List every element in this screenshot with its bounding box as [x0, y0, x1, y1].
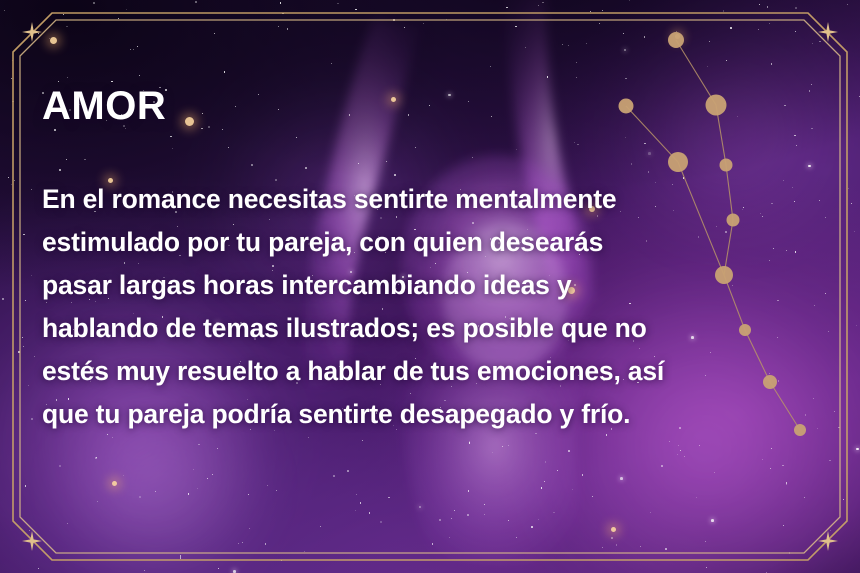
- paragraph-line: que tu pareja podría sentirte desapegado…: [42, 393, 800, 436]
- card-content: AMOR En el romance necesitas sentirte me…: [42, 86, 800, 436]
- paragraph-line: estimulado por tu pareja, con quien dese…: [42, 221, 800, 264]
- page-title: AMOR: [42, 86, 800, 126]
- paragraph-line: estés muy resuelto a hablar de tus emoci…: [42, 350, 800, 393]
- paragraph-line: En el romance necesitas sentirte mentalm…: [42, 178, 800, 221]
- sparkle-icon-bottom-right: [818, 531, 838, 551]
- sparkle-icon-top-right: [818, 22, 838, 42]
- sparkle-icon-top-left: [22, 22, 42, 42]
- paragraph-line: hablando de temas ilustrados; es posible…: [42, 307, 800, 350]
- horoscope-amor-card: AMOR En el romance necesitas sentirte me…: [0, 0, 860, 573]
- paragraph-line: pasar largas horas intercambiando ideas …: [42, 264, 800, 307]
- sparkle-icon-bottom-left: [22, 531, 42, 551]
- horoscope-paragraph: En el romance necesitas sentirte mentalm…: [42, 178, 800, 436]
